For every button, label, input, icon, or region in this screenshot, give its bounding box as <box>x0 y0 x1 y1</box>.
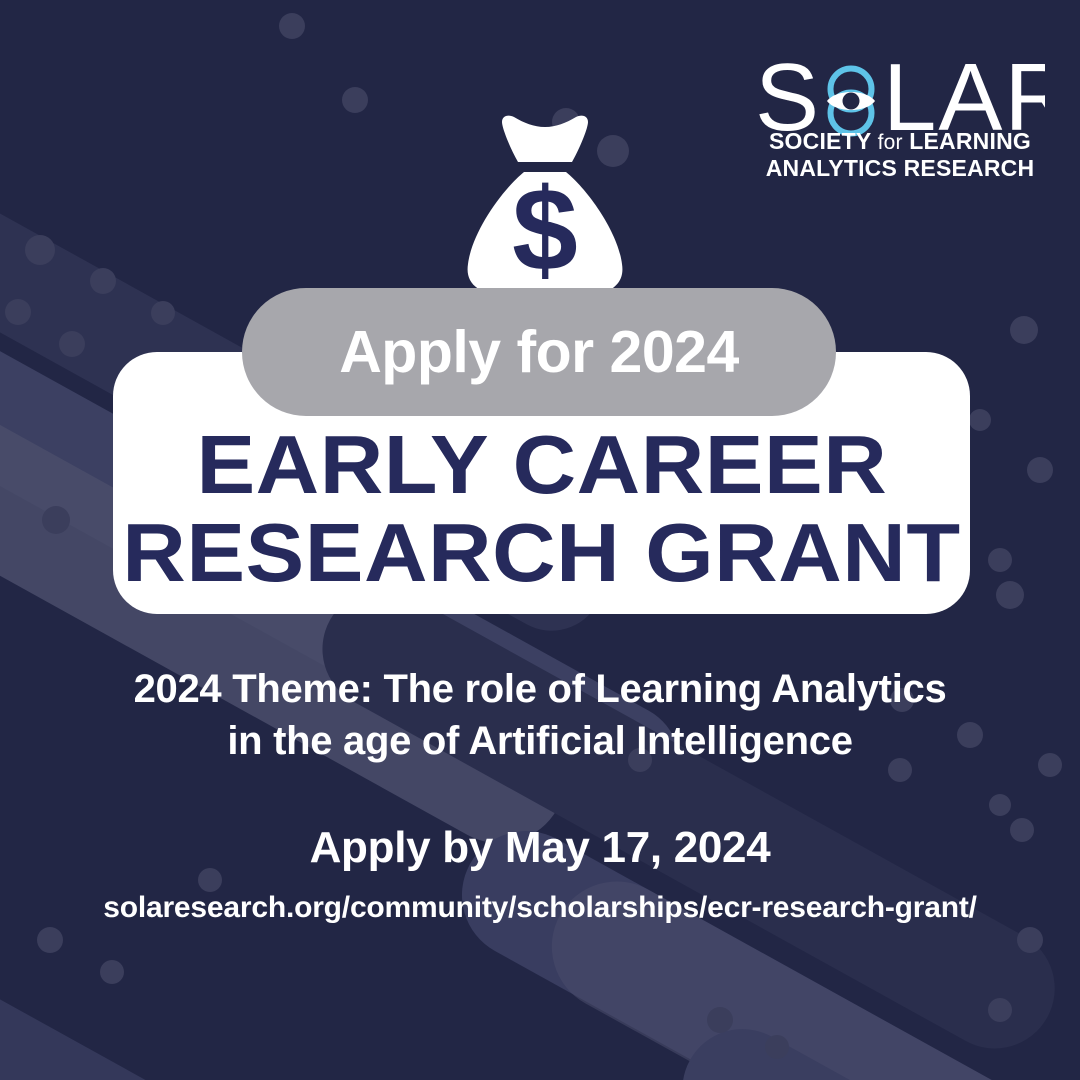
background-dot <box>100 960 124 984</box>
apply-badge[interactable]: Apply for 2024 <box>242 288 836 416</box>
background-dot <box>342 87 368 113</box>
solar-logo[interactable]: S LAR SOCIETY for LEARNING ANALYTICS RES… <box>755 52 1045 187</box>
background-dot <box>90 268 116 294</box>
application-url[interactable]: solaresearch.org/community/scholarships/… <box>0 891 1080 925</box>
background-dot <box>989 794 1011 816</box>
background-dot <box>996 581 1024 609</box>
background-dot <box>59 331 85 357</box>
background-dot <box>1027 457 1053 483</box>
background-dot <box>25 235 55 265</box>
background-dot <box>707 1007 733 1033</box>
background-dot <box>151 301 175 325</box>
background-dot <box>5 299 31 325</box>
dollar-sign-glyph: $ <box>512 164 578 296</box>
headline-line-2: RESEARCH GRANT <box>122 512 960 594</box>
logo-tagline-society: SOCIETY <box>769 128 871 154</box>
theme-line-1: 2024 Theme: The role of Learning Analyti… <box>0 663 1080 715</box>
logo-tagline-for: for <box>878 131 903 154</box>
comet-streak <box>661 1008 1080 1080</box>
money-bag-icon: $ <box>462 112 628 302</box>
theme-text: 2024 Theme: The role of Learning Analyti… <box>0 663 1080 767</box>
deadline-text: Apply by May 17, 2024 <box>0 823 1080 873</box>
background-dot <box>1010 316 1038 344</box>
logo-tagline-learning: LEARNING <box>909 128 1031 154</box>
background-dot <box>988 998 1012 1022</box>
background-dot <box>1017 927 1043 953</box>
background-dot <box>969 409 991 431</box>
poster-canvas: S LAR SOCIETY for LEARNING ANALYTICS RES… <box>0 0 1080 1080</box>
apply-badge-label: Apply for 2024 <box>339 323 739 382</box>
logo-tagline-line2: ANALYTICS RESEARCH <box>757 155 1043 182</box>
background-dot <box>988 548 1012 572</box>
background-dot <box>37 927 63 953</box>
bag-tie-shape <box>502 116 588 162</box>
background-dot <box>42 506 70 534</box>
logo-tagline-line1: SOCIETY for LEARNING <box>757 128 1043 155</box>
background-dot <box>765 1035 789 1059</box>
headline-line-1: EARLY CAREER <box>196 424 887 506</box>
background-dot <box>279 13 305 39</box>
solar-eye-infinity-mark <box>827 69 875 134</box>
theme-line-2: in the age of Artificial Intelligence <box>0 715 1080 767</box>
comet-streak <box>301 568 1076 1070</box>
